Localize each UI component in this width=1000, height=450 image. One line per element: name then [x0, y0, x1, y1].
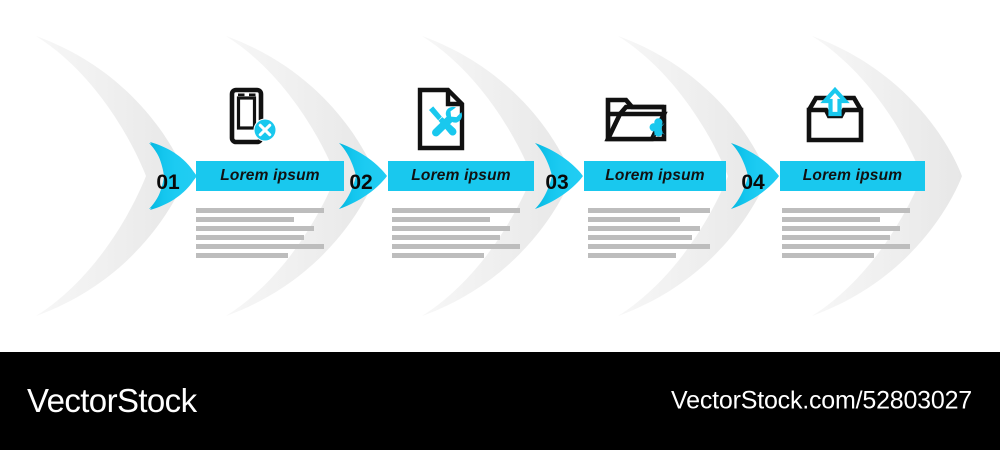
step-number-04: 04 — [732, 170, 774, 196]
step-label-04: Lorem ipsum — [780, 167, 925, 185]
text-line — [782, 235, 890, 240]
watermark-footer: VectorStock VectorStock.com/52803027 — [0, 352, 1000, 450]
outbox-tray-upload-icon — [798, 86, 872, 152]
text-line — [782, 208, 910, 213]
step-number-01: 01 — [147, 170, 189, 196]
text-line — [782, 217, 880, 222]
infographic-illustration: 01 Lorem ipsum — [0, 0, 1000, 352]
step-text-lines-04 — [782, 208, 910, 262]
text-line — [782, 226, 900, 231]
step-number-03: 03 — [536, 170, 578, 196]
text-line — [782, 244, 910, 249]
screenshot-canvas: 01 Lorem ipsum — [0, 0, 1000, 450]
step-number-02: 02 — [340, 170, 382, 196]
step-bar-04[interactable]: Lorem ipsum — [780, 161, 925, 191]
vectorstock-url: VectorStock.com/52803027 — [671, 387, 972, 416]
vectorstock-logo: VectorStock — [27, 382, 197, 420]
text-line — [782, 253, 874, 258]
step-04[interactable]: 04 Lorem ipsum — [0, 0, 940, 352]
